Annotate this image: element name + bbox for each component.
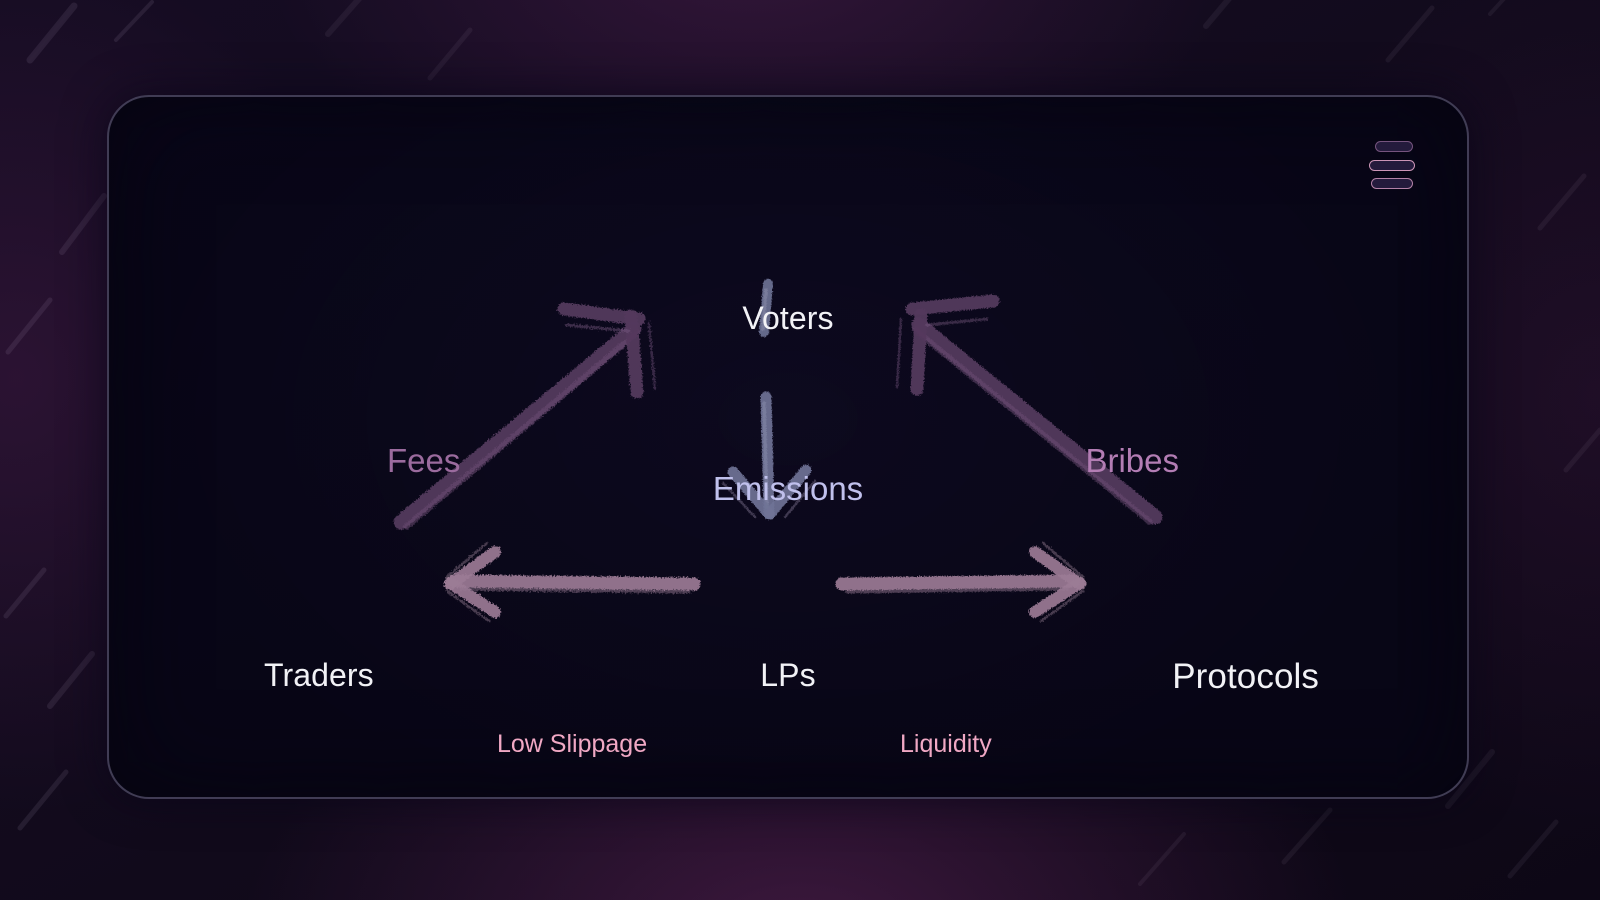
arrow-low-slippage (447, 543, 694, 621)
menu-bar-1 (1375, 141, 1413, 152)
edge-label-liquidity: Liquidity (900, 730, 992, 759)
edge-label-emissions: Emissions (109, 470, 1467, 508)
node-label-protocols: Protocols (1172, 657, 1319, 697)
menu-bar-3 (1371, 178, 1413, 189)
slide-canvas: Voters Traders LPs Protocols Fees Bribes… (0, 0, 1600, 900)
menu-bar-2 (1369, 160, 1415, 171)
arrow-liquidity (842, 543, 1083, 621)
hamburger-menu-icon[interactable] (1365, 141, 1415, 189)
diagram-panel: Voters Traders LPs Protocols Fees Bribes… (107, 95, 1469, 799)
edge-label-low-slippage: Low Slippage (497, 730, 647, 759)
node-label-voters: Voters (109, 300, 1467, 337)
